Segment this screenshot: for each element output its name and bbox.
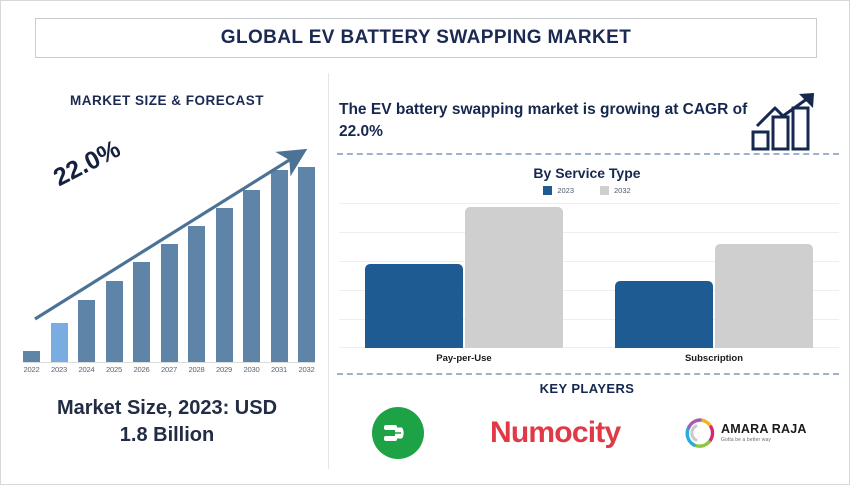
forecast-year-label: 2029	[216, 365, 233, 374]
forecast-bar	[133, 262, 150, 362]
market-size-line-1: Market Size, 2023: USD	[57, 397, 277, 419]
forecast-year-label: 2026	[133, 365, 150, 374]
legend-label: 2032	[614, 186, 631, 195]
market-size-line-2: 1.8 Billion	[120, 424, 214, 446]
forecast-year-label: 2025	[106, 365, 123, 374]
numocity-wordmark: Numocity	[490, 416, 620, 450]
forecast-bar	[188, 226, 205, 362]
amara-raja-ring-icon	[685, 418, 715, 448]
forecast-bar	[51, 323, 68, 362]
forecast-year-label: 2031	[271, 365, 288, 374]
forecast-bar	[243, 190, 260, 362]
forecast-year-label: 2028	[188, 365, 205, 374]
amara-raja-wordmark: AMARA RAJA	[721, 423, 807, 436]
service-bar-groups	[339, 203, 839, 348]
forecast-bar	[23, 351, 40, 362]
market-size-value: Market Size, 2023: USD 1.8 Billion	[11, 395, 323, 449]
forecast-year-label: 2030	[243, 365, 260, 374]
ev-plug-logo[interactable]	[371, 406, 425, 460]
forecast-year-label: 2032	[298, 365, 315, 374]
forecast-bar	[161, 244, 178, 362]
forecast-bar	[298, 167, 315, 362]
legend-swatch	[543, 186, 552, 195]
amara-raja-logo[interactable]: AMARA RAJA Gotta be a better way	[685, 418, 807, 448]
infographic-root: GLOBAL EV BATTERY SWAPPING MARKET MARKET…	[0, 0, 850, 485]
numocity-logo[interactable]: Numocity	[490, 416, 620, 450]
forecast-bar	[78, 300, 95, 362]
forecast-year-axis: 2022202320242025202620272028202920302031…	[23, 365, 315, 374]
forecast-year-label: 2023	[51, 365, 68, 374]
legend-item[interactable]: 2023	[543, 186, 574, 195]
cagr-statement-block: The EV battery swapping market is growin…	[339, 85, 839, 157]
service-type-bar-chart	[339, 203, 839, 348]
service-bar-group	[615, 244, 813, 348]
title-bar: GLOBAL EV BATTERY SWAPPING MARKET	[35, 18, 817, 58]
service-bar-2032	[465, 207, 563, 348]
amara-raja-tagline: Gotta be a better way	[721, 438, 807, 443]
cagr-statement-text: The EV battery swapping market is growin…	[339, 99, 749, 144]
forecast-year-label: 2024	[78, 365, 95, 374]
page-title: GLOBAL EV BATTERY SWAPPING MARKET	[221, 27, 631, 49]
market-forecast-bar-chart: 22.0%	[23, 141, 315, 363]
forecast-bar	[106, 281, 123, 362]
service-bar-2023	[615, 281, 713, 348]
service-bar-group	[365, 207, 563, 348]
service-bar-2023	[365, 264, 463, 348]
key-players-heading: KEY PLAYERS	[333, 381, 841, 396]
ev-plug-icon	[371, 406, 425, 460]
forecast-year-label: 2027	[161, 365, 178, 374]
legend-swatch	[600, 186, 609, 195]
divider-bottom	[337, 373, 839, 375]
forecast-bar	[216, 208, 233, 362]
legend-item[interactable]: 2032	[600, 186, 631, 195]
service-bar-2032	[715, 244, 813, 348]
market-size-forecast-panel: MARKET SIZE & FORECAST 22.0% 20222023202…	[11, 73, 323, 471]
service-category-axis: Pay-per-UseSubscription	[339, 353, 839, 364]
market-size-forecast-heading: MARKET SIZE & FORECAST	[11, 93, 323, 108]
bar-chart-growth-icon	[749, 90, 827, 152]
service-type-heading: By Service Type	[333, 165, 841, 181]
service-category-label: Subscription	[614, 353, 814, 364]
divider-top	[337, 153, 839, 155]
right-panel: The EV battery swapping market is growin…	[333, 73, 841, 471]
service-type-legend: 20232032	[333, 186, 841, 195]
legend-label: 2023	[557, 186, 574, 195]
service-category-label: Pay-per-Use	[364, 353, 564, 364]
panel-vertical-divider	[328, 73, 329, 469]
key-players-logos: Numocity AMARA RAJA Gotta be a better wa…	[339, 401, 839, 465]
forecast-bar	[271, 170, 288, 362]
forecast-year-label: 2022	[23, 365, 40, 374]
